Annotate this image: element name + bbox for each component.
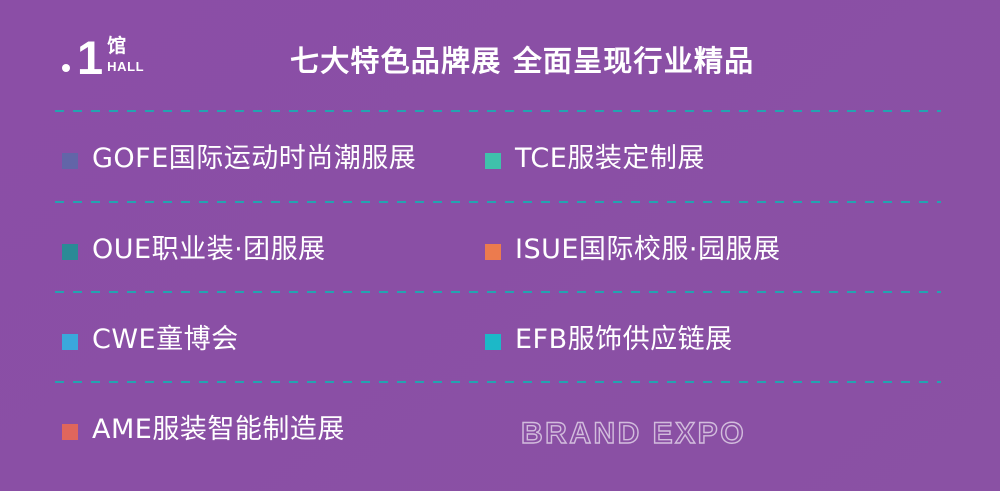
bullet-square-icon (485, 244, 501, 260)
exhibition-item-efb[interactable]: EFB服饰供应链展 (485, 295, 733, 385)
exhibition-list: GOFE国际运动时尚潮服展 TCE服装定制展 OUE职业装·团服展 ISUE国际… (0, 0, 1000, 491)
exhibition-item-oue[interactable]: OUE职业装·团服展 (62, 205, 326, 295)
brand-expo-poster: 1 馆 HALL 七大特色品牌展 全面呈现行业精品 GOFE国际运动时尚潮服展 … (0, 0, 1000, 491)
exhibition-row: GOFE国际运动时尚潮服展 TCE服装定制展 (0, 114, 1000, 204)
exhibition-item-tce[interactable]: TCE服装定制展 (485, 114, 705, 204)
exhibition-label: ISUE国际校服·园服展 (515, 235, 781, 265)
exhibition-label: TCE服装定制展 (515, 144, 705, 174)
bullet-square-icon (62, 153, 78, 169)
exhibition-item-cwe[interactable]: CWE童博会 (62, 295, 239, 385)
exhibition-item-gofe[interactable]: GOFE国际运动时尚潮服展 (62, 114, 416, 204)
bullet-square-icon (485, 334, 501, 350)
exhibition-label: GOFE国际运动时尚潮服展 (92, 144, 416, 174)
exhibition-row: OUE职业装·团服展 ISUE国际校服·园服展 (0, 205, 1000, 295)
bullet-square-icon (62, 244, 78, 260)
bullet-square-icon (62, 424, 78, 440)
brand-expo-watermark: BRAND EXPO (521, 417, 746, 451)
exhibition-label: AME服装智能制造展 (92, 415, 345, 445)
exhibition-label: CWE童博会 (92, 325, 239, 355)
exhibition-item-isue[interactable]: ISUE国际校服·园服展 (485, 205, 781, 295)
exhibition-row: CWE童博会 EFB服饰供应链展 (0, 295, 1000, 385)
exhibition-item-ame[interactable]: AME服装智能制造展 (62, 385, 345, 475)
bullet-square-icon (62, 334, 78, 350)
bullet-square-icon (485, 153, 501, 169)
exhibition-label: OUE职业装·团服展 (92, 235, 326, 265)
exhibition-row: AME服装智能制造展 (0, 385, 1000, 475)
exhibition-label: EFB服饰供应链展 (515, 325, 733, 355)
